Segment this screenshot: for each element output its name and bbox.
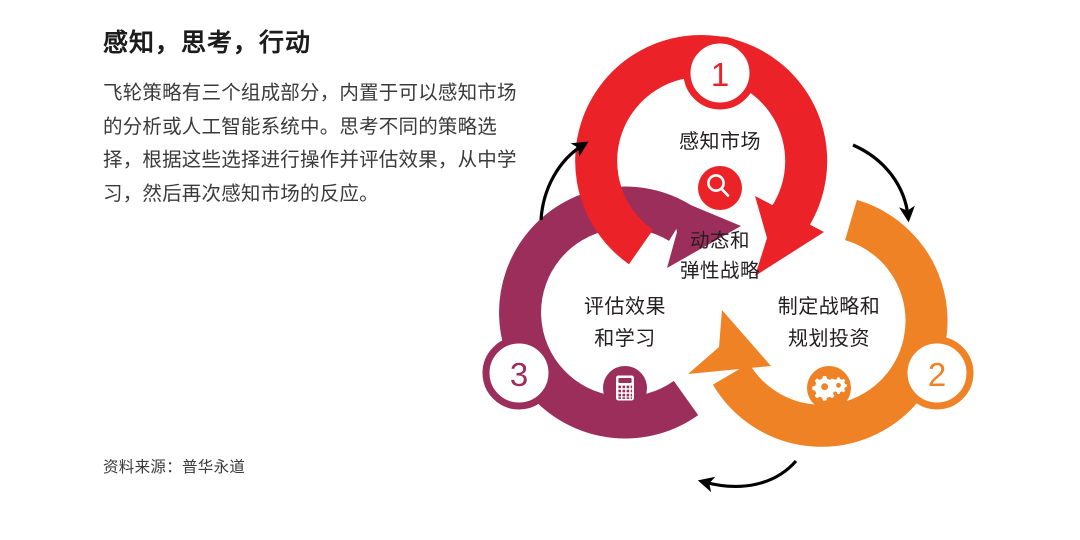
badge-2-number: 2 [928,356,946,393]
node-3-label-line1: 评估效果 [584,295,666,318]
badge-3[interactable]: 3 [486,340,552,406]
badge-1[interactable]: 1 [687,40,753,106]
arrow-orange-to-purple [704,461,796,486]
arrow-orange-to-purple-path [704,461,796,486]
flywheel-diagram: 1 2 3 感知市场 [455,0,1075,540]
node-1-content: 感知市场 [679,130,761,210]
badge-2[interactable]: 2 [904,340,970,406]
node-3-label-line2: 和学习 [594,327,656,350]
source-note: 资料来源：普华永道 [103,455,245,477]
center-label-line1: 动态和 [690,230,750,252]
orange-arrowhead [688,310,771,374]
diagram-page: 感知，思考，行动 飞轮策略有三个组成部分，内置于可以感知市场的分析或人工智能系统… [0,0,1080,540]
calculator-icon [616,376,634,401]
node-2-label-line1: 制定战略和 [778,295,881,318]
node-1-label-line1: 感知市场 [679,130,761,153]
badge-3-number: 3 [510,356,528,393]
center-label: 动态和 弹性战略 [680,230,760,282]
node-2-label-line2: 规划投资 [788,327,870,350]
center-label-line2: 弹性战略 [680,260,760,282]
badge-1-number: 1 [711,56,729,93]
